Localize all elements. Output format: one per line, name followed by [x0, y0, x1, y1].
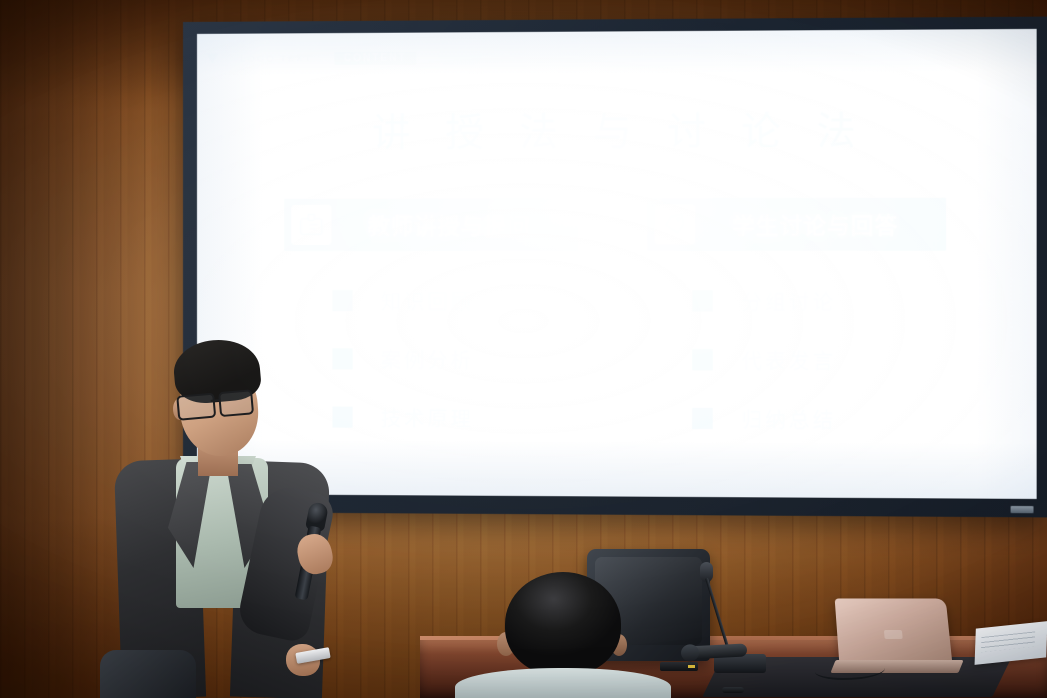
bullet-text: 案例分析	[381, 344, 474, 373]
presentation-remote	[660, 662, 698, 671]
bullet-list-student: 分组讨论 代表发言 归纳总结	[647, 287, 946, 433]
glasses-lens-right	[218, 389, 254, 417]
list-item: 归纳总结	[692, 405, 946, 433]
bullet-text: 技术原理	[381, 403, 474, 433]
audience-member	[497, 572, 629, 698]
papers	[975, 621, 1047, 665]
audience-shoulders	[455, 668, 671, 698]
list-item: 分组讨论	[692, 287, 946, 315]
slide-topbar-text: LOGO TEXT	[240, 53, 312, 64]
square-bullet-icon	[692, 290, 713, 311]
presenter	[118, 338, 368, 698]
slide-title: 讲 授 法 与 讨 论 法	[197, 98, 1037, 157]
screen-brand-label	[1011, 506, 1034, 513]
audience-head	[505, 572, 621, 676]
slide-topbar-badge	[438, 51, 481, 64]
column-header-teacher: 教师讲授与提问	[284, 198, 577, 251]
glasses-lens-left	[176, 393, 216, 421]
presentation-photo-scene: LOGO TEXT CONTENT 讲 授 法 与 讨 论 法	[0, 0, 1047, 698]
slide-topbar: LOGO TEXT CONTENT	[207, 45, 1026, 68]
list-item: 技术原理	[332, 404, 577, 432]
square-bullet-icon	[332, 290, 352, 311]
laptop-cable	[815, 660, 885, 680]
list-item: 案例分析	[332, 345, 577, 373]
column-title-teacher: 教师讲授与提问	[331, 208, 577, 240]
laptop	[833, 598, 961, 678]
price-tag-icon	[654, 204, 695, 245]
triangle-mark-icon	[207, 54, 218, 64]
id-card-icon	[291, 205, 331, 245]
bullet-text: 分组讨论	[741, 286, 836, 316]
bullet-text: 归纳总结	[741, 404, 836, 434]
square-bullet-icon	[692, 349, 713, 370]
list-item: 代表发言	[692, 346, 946, 374]
conference-chair-left	[100, 650, 196, 698]
pen	[722, 687, 744, 693]
list-item: 知识回顾	[332, 287, 577, 314]
slide-column-student: 学生讨论与回答 分组讨论 代表发言	[647, 198, 946, 483]
bullet-text: 代表发言	[741, 345, 836, 375]
bullet-text: 知识回顾	[381, 286, 474, 315]
column-header-student: 学生讨论与回答	[647, 198, 946, 251]
square-bullet-icon	[692, 408, 713, 429]
column-title-student: 学生讨论与回答	[695, 208, 946, 241]
laptop-lid	[835, 598, 953, 664]
slide-topbar-chip: CONTENT	[335, 51, 416, 64]
